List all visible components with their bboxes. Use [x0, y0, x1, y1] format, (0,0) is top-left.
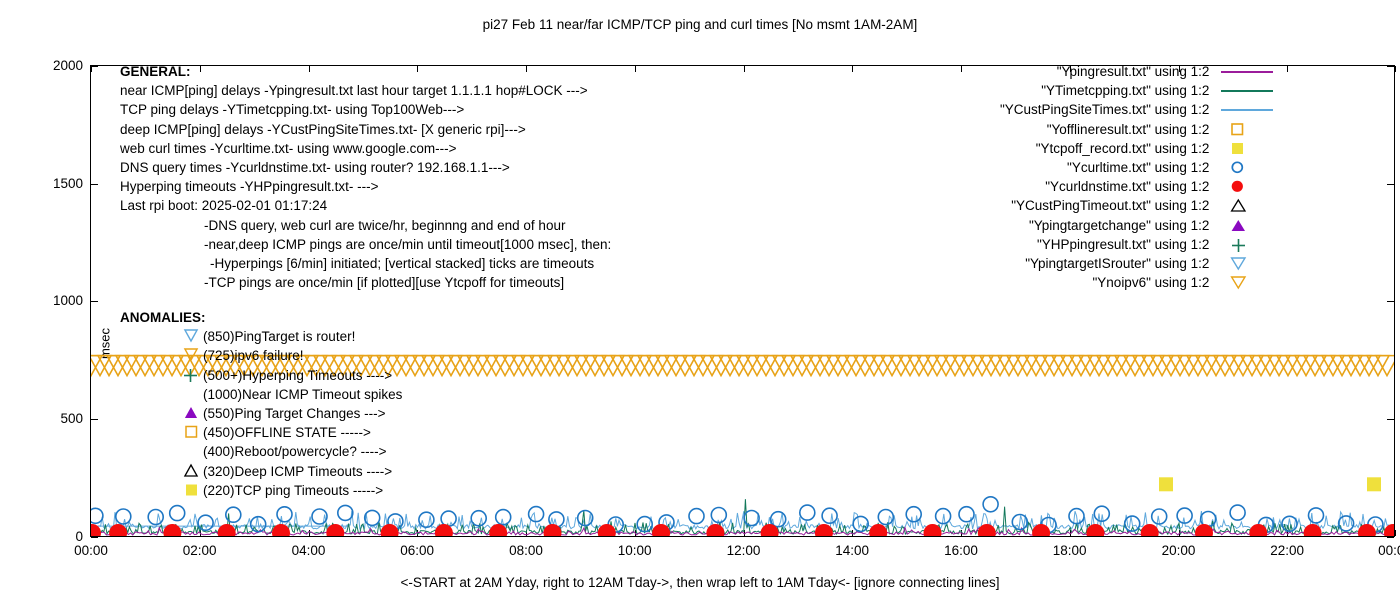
- anomaly-row: (725)ipv6 failure!: [120, 346, 402, 365]
- y-tick-label: 2000: [13, 58, 83, 73]
- y-tick-label: 500: [13, 411, 83, 426]
- legend-item-ycustpingsitetimes: "YCustPingSiteTimes.txt" using 1:2: [1000, 100, 1281, 119]
- legend-label: "Yofflineresult.txt" using 1:2: [1047, 122, 1210, 137]
- anomaly-row: (320)Deep ICMP Timeouts ---->: [120, 462, 402, 481]
- legend-item-ypingtargetisrouter: "YpingtargetISrouter" using 1:2: [1000, 254, 1281, 273]
- anomaly-row: (400)Reboot/powercycle? ---->: [120, 442, 402, 461]
- legend-key-triangle-black-open-icon: [1215, 196, 1281, 215]
- legend-key-plus-green-icon: [1215, 235, 1281, 254]
- legend-item-ytcpoff-record: "Ytcpoff_record.txt" using 1:2: [1000, 139, 1281, 158]
- x-tick-label: 18:00: [1035, 543, 1105, 558]
- legend-key-triangle-purple-filled-icon: [1215, 216, 1281, 235]
- legend-item-ycustpingtimeout: "YCustPingTimeout.txt" using 1:2: [1000, 196, 1281, 215]
- anomaly-label: (220)TCP ping Timeouts ----->: [203, 483, 383, 498]
- legend-label: "YHPpingresult.txt" using 1:2: [1037, 237, 1209, 252]
- legend-key-down-triangle-lightblue-icon: [1215, 254, 1281, 273]
- anomalies-annotation-block: ANOMALIES: (850)PingTarget is router! (7…: [120, 308, 402, 500]
- x-tick-label: 14:00: [817, 543, 887, 558]
- legend-item-ycurltime: "Ycurltime.txt" using 1:2: [1000, 158, 1281, 177]
- anomaly-label: (500+)Hyperping Timeouts ---->: [203, 368, 392, 383]
- anomaly-label: (550)Ping Target Changes --->: [203, 406, 385, 421]
- general-line: deep ICMP[ping] delays -YCustPingSiteTim…: [120, 120, 611, 139]
- anomaly-label: (450)OFFLINE STATE ----->: [203, 425, 371, 440]
- anomalies-header: ANOMALIES:: [120, 308, 402, 327]
- legend-key-down-triangle-orange-icon: [1215, 273, 1281, 292]
- legend-label: "YCustPingTimeout.txt" using 1:2: [1011, 198, 1209, 213]
- x-tick-label: 08:00: [491, 543, 561, 558]
- legend-label: "Ypingresult.txt" using 1:2: [1057, 64, 1210, 79]
- legend-item-ynoipv6: "Ynoipv6" using 1:2: [1000, 273, 1281, 292]
- legend-item-yofflineresult: "Yofflineresult.txt" using 1:2: [1000, 120, 1281, 139]
- anomaly-row: (500+)Hyperping Timeouts ---->: [120, 366, 402, 385]
- no-marker: [120, 385, 200, 404]
- general-header: GENERAL:: [120, 62, 611, 81]
- legend-key-line-lightblue: [1215, 100, 1281, 119]
- legend: "Ypingresult.txt" using 1:2 "YTimetcppin…: [1000, 62, 1281, 292]
- x-tick-label: 22:00: [1252, 543, 1322, 558]
- triangle-black-open-icon: [120, 462, 200, 481]
- general-line: Hyperping timeouts -YHPpingresult.txt- -…: [120, 177, 611, 196]
- general-line: near ICMP[ping] delays -Ypingresult.txt …: [120, 81, 611, 100]
- x-tick-label: 10:00: [600, 543, 670, 558]
- general-line: DNS query times -Ycurldnstime.txt- using…: [120, 158, 611, 177]
- x-tick-label: 16:00: [926, 543, 996, 558]
- triangle-purple-filled-icon: [120, 404, 200, 423]
- down-triangle-lightblue-icon: [120, 327, 200, 346]
- legend-label: "Ypingtargetchange" using 1:2: [1029, 218, 1209, 233]
- x-tick-label: 00:00: [1360, 543, 1400, 558]
- legend-key-circle-red-filled-icon: [1215, 177, 1281, 196]
- anomaly-row: (450)OFFLINE STATE ----->: [120, 423, 402, 442]
- down-triangle-orange-icon: [120, 346, 200, 365]
- legend-key-line-green: [1215, 81, 1281, 100]
- legend-key-square-yellow-filled-icon: [1215, 139, 1281, 158]
- legend-item-ycurldnstime: "Ycurldnstime.txt" using 1:2: [1000, 177, 1281, 196]
- general-indented-line: -near,deep ICMP pings are once/min until…: [120, 235, 611, 254]
- anomaly-row: (220)TCP ping Timeouts ----->: [120, 481, 402, 500]
- square-orange-open-icon: [120, 423, 200, 442]
- general-line: Last rpi boot: 2025-02-01 01:17:24: [120, 196, 611, 215]
- anomaly-label: (1000)Near ICMP Timeout spikes: [203, 387, 402, 402]
- legend-key-square-orange-open-icon: [1215, 120, 1281, 139]
- no-marker: [120, 442, 200, 461]
- anomaly-row: (1000)Near ICMP Timeout spikes: [120, 385, 402, 404]
- page-title: pi27 Feb 11 near/far ICMP/TCP ping and c…: [0, 17, 1400, 32]
- general-indented-line: -Hyperpings [6/min] initiated; [vertical…: [120, 254, 611, 273]
- legend-item-yhppingresult: "YHPpingresult.txt" using 1:2: [1000, 235, 1281, 254]
- y-tick-label: 0: [13, 529, 83, 544]
- legend-item-ypingresult: "Ypingresult.txt" using 1:2: [1000, 62, 1281, 81]
- general-indented-line: -TCP pings are once/min [if plotted][use…: [120, 273, 611, 292]
- x-tick-label: 00:00: [56, 543, 126, 558]
- general-indented-line: -DNS query, web curl are twice/hr, begin…: [120, 216, 611, 235]
- square-yellow-filled-icon: [120, 481, 200, 500]
- anomaly-label: (320)Deep ICMP Timeouts ---->: [203, 464, 392, 479]
- legend-label: "YpingtargetISrouter" using 1:2: [1025, 256, 1209, 271]
- x-tick-label: 04:00: [274, 543, 344, 558]
- legend-item-ytimetcpping: "YTimetcpping.txt" using 1:2: [1000, 81, 1281, 100]
- plus-green-icon: [120, 366, 200, 385]
- legend-label: "Ynoipv6" using 1:2: [1093, 275, 1210, 290]
- x-tick-label: 06:00: [382, 543, 452, 558]
- general-annotation-block: GENERAL: near ICMP[ping] delays -Ypingre…: [120, 62, 611, 292]
- x-axis-caption: <-START at 2AM Yday, right to 12AM Tday-…: [0, 575, 1400, 590]
- legend-label: "YTimetcpping.txt" using 1:2: [1041, 83, 1209, 98]
- legend-key-line-purple: [1215, 62, 1281, 81]
- legend-item-ypingtargetchange: "Ypingtargetchange" using 1:2: [1000, 216, 1281, 235]
- y-tick-label: 1500: [13, 176, 83, 191]
- anomaly-label: (400)Reboot/powercycle? ---->: [203, 444, 386, 459]
- legend-label: "Ytcpoff_record.txt" using 1:2: [1036, 141, 1210, 156]
- legend-label: "Ycurldnstime.txt" using 1:2: [1045, 179, 1209, 194]
- legend-key-circle-blue-open-icon: [1215, 158, 1281, 177]
- anomaly-label: (725)ipv6 failure!: [203, 348, 304, 363]
- y-tick-label: 1000: [13, 293, 83, 308]
- general-line: TCP ping delays -YTimetcpping.txt- using…: [120, 100, 611, 119]
- x-tick-label: 20:00: [1144, 543, 1214, 558]
- legend-label: "Ycurltime.txt" using 1:2: [1067, 160, 1209, 175]
- general-line: web curl times -Ycurltime.txt- using www…: [120, 139, 611, 158]
- x-tick-label: 02:00: [165, 543, 235, 558]
- anomaly-row: (550)Ping Target Changes --->: [120, 404, 402, 423]
- anomaly-label: (850)PingTarget is router!: [203, 329, 355, 344]
- legend-label: "YCustPingSiteTimes.txt" using 1:2: [1000, 102, 1209, 117]
- anomaly-row: (850)PingTarget is router!: [120, 327, 402, 346]
- x-tick-label: 12:00: [709, 543, 779, 558]
